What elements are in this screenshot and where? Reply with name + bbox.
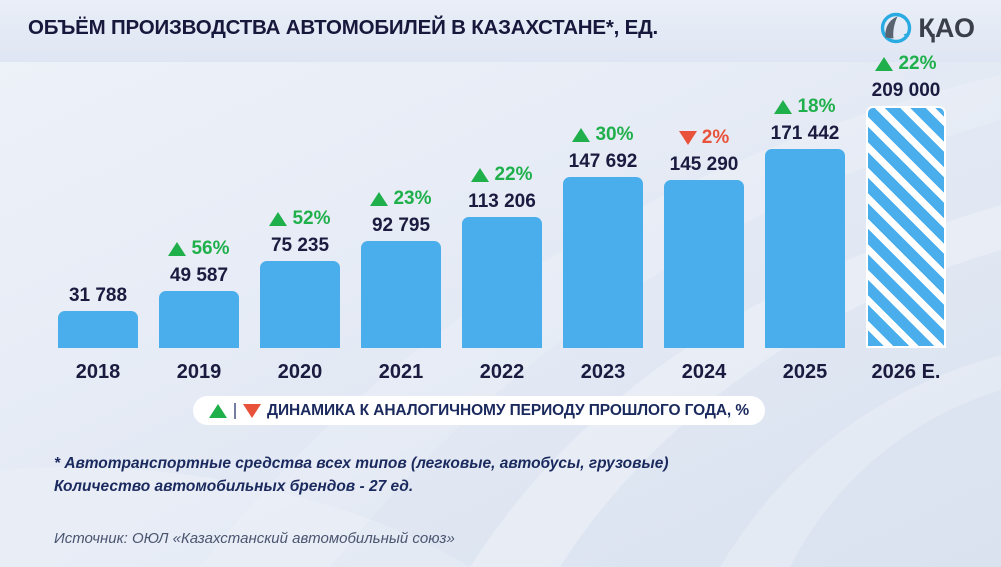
bar-delta-text: 56% <box>191 238 229 260</box>
bar-forecast[interactable] <box>866 106 946 348</box>
bar-value-label: 75 235 <box>246 235 354 257</box>
bar-value-label: 171 442 <box>751 123 859 145</box>
infographic-chart: ОБЪЁМ ПРОИЗВОДСТВА АВТОМОБИЛЕЙ В КАЗАХСТ… <box>0 0 1001 567</box>
bar-delta-text: 2% <box>702 127 729 149</box>
brand-logo: ҚАО <box>879 11 975 45</box>
triangle-up-icon <box>269 212 287 226</box>
bar-delta-badge: 52% <box>246 208 354 230</box>
bar-delta-badge: 23% <box>347 188 455 210</box>
bar-group-2026E: 209 00022%2026 E. <box>866 62 946 392</box>
bar[interactable] <box>462 217 542 348</box>
bar-year-label: 2019 <box>143 361 255 384</box>
bar-group-2023: 147 69230%2023 <box>563 62 643 392</box>
bar-group-2021: 92 79523%2021 <box>361 62 441 392</box>
bar-delta-badge: 2% <box>650 127 758 149</box>
bar-value-label: 145 290 <box>650 154 758 176</box>
bar-year-label: 2023 <box>547 361 659 384</box>
source-line: Источник: ОЮЛ «Казахстанский автомобильн… <box>54 530 455 547</box>
bar-delta-badge: 22% <box>448 164 556 186</box>
bar-year-label: 2018 <box>42 361 154 384</box>
bar-value-label: 92 795 <box>347 215 455 237</box>
bar-value-label: 49 587 <box>145 265 253 287</box>
legend-label: ДИНАМИКА К АНАЛОГИЧНОМУ ПЕРИОДУ ПРОШЛОГО… <box>267 402 749 420</box>
bar-group-2022: 113 20622%2022 <box>462 62 542 392</box>
bar-group-2024: 145 2902%2024 <box>664 62 744 392</box>
footnotes: * Автотранспортные средства всех типов (… <box>54 452 814 498</box>
bar-delta-badge: 56% <box>145 238 253 260</box>
bar-delta-text: 23% <box>393 188 431 210</box>
footnote-line-1: * Автотранспортные средства всех типов (… <box>54 452 814 475</box>
bar-group-2025: 171 44218%2025 <box>765 62 845 392</box>
triangle-up-icon <box>209 404 227 418</box>
bar[interactable] <box>361 241 441 348</box>
bar-year-label: 2025 <box>749 361 861 384</box>
bar-year-label: 2021 <box>345 361 457 384</box>
header-band: ОБЪЁМ ПРОИЗВОДСТВА АВТОМОБИЛЕЙ В КАЗАХСТ… <box>0 0 1001 62</box>
logo-text: ҚАО <box>918 15 975 42</box>
triangle-up-icon <box>471 168 489 182</box>
bar[interactable] <box>664 180 744 348</box>
legend-divider <box>234 403 236 419</box>
triangle-up-icon <box>774 100 792 114</box>
bar-year-label: 2026 E. <box>850 361 962 384</box>
bar-group-2019: 49 58756%2019 <box>159 62 239 392</box>
bar-delta-badge: 18% <box>751 96 859 118</box>
circle-swoosh-icon <box>879 11 913 45</box>
bar-delta-badge: 22% <box>852 53 960 75</box>
bar[interactable] <box>563 177 643 348</box>
bar[interactable] <box>58 311 138 348</box>
triangle-down-icon <box>679 131 697 145</box>
footnote-line-2: Количество автомобильных брендов - 27 ед… <box>54 475 814 498</box>
bar[interactable] <box>765 149 845 348</box>
bar-value-label: 209 000 <box>852 80 960 102</box>
triangle-up-icon <box>168 242 186 256</box>
bar-year-label: 2020 <box>244 361 356 384</box>
bar-value-label: 113 206 <box>448 191 556 213</box>
bar-group-2018: 31 7882018 <box>58 62 138 392</box>
legend-pill: ДИНАМИКА К АНАЛОГИЧНОМУ ПЕРИОДУ ПРОШЛОГО… <box>193 396 765 425</box>
bar-delta-text: 22% <box>494 164 532 186</box>
bar[interactable] <box>260 261 340 348</box>
triangle-up-icon <box>370 192 388 206</box>
bar-value-label: 31 788 <box>44 285 152 307</box>
bar-delta-badge: 30% <box>549 124 657 146</box>
bar-group-2020: 75 23552%2020 <box>260 62 340 392</box>
triangle-up-icon <box>572 128 590 142</box>
bar-delta-text: 52% <box>292 208 330 230</box>
page-title: ОБЪЁМ ПРОИЗВОДСТВА АВТОМОБИЛЕЙ В КАЗАХСТ… <box>28 16 658 40</box>
bar-year-label: 2022 <box>446 361 558 384</box>
triangle-down-icon <box>243 404 261 418</box>
bar-year-label: 2024 <box>648 361 760 384</box>
chart-plot-area: 31 788201849 58756%201975 23552%202092 7… <box>0 62 1001 392</box>
bar-delta-text: 18% <box>797 96 835 118</box>
triangle-up-icon <box>875 57 893 71</box>
bar-delta-text: 30% <box>595 124 633 146</box>
bar[interactable] <box>159 291 239 348</box>
bar-delta-text: 22% <box>898 53 936 75</box>
bar-value-label: 147 692 <box>549 151 657 173</box>
